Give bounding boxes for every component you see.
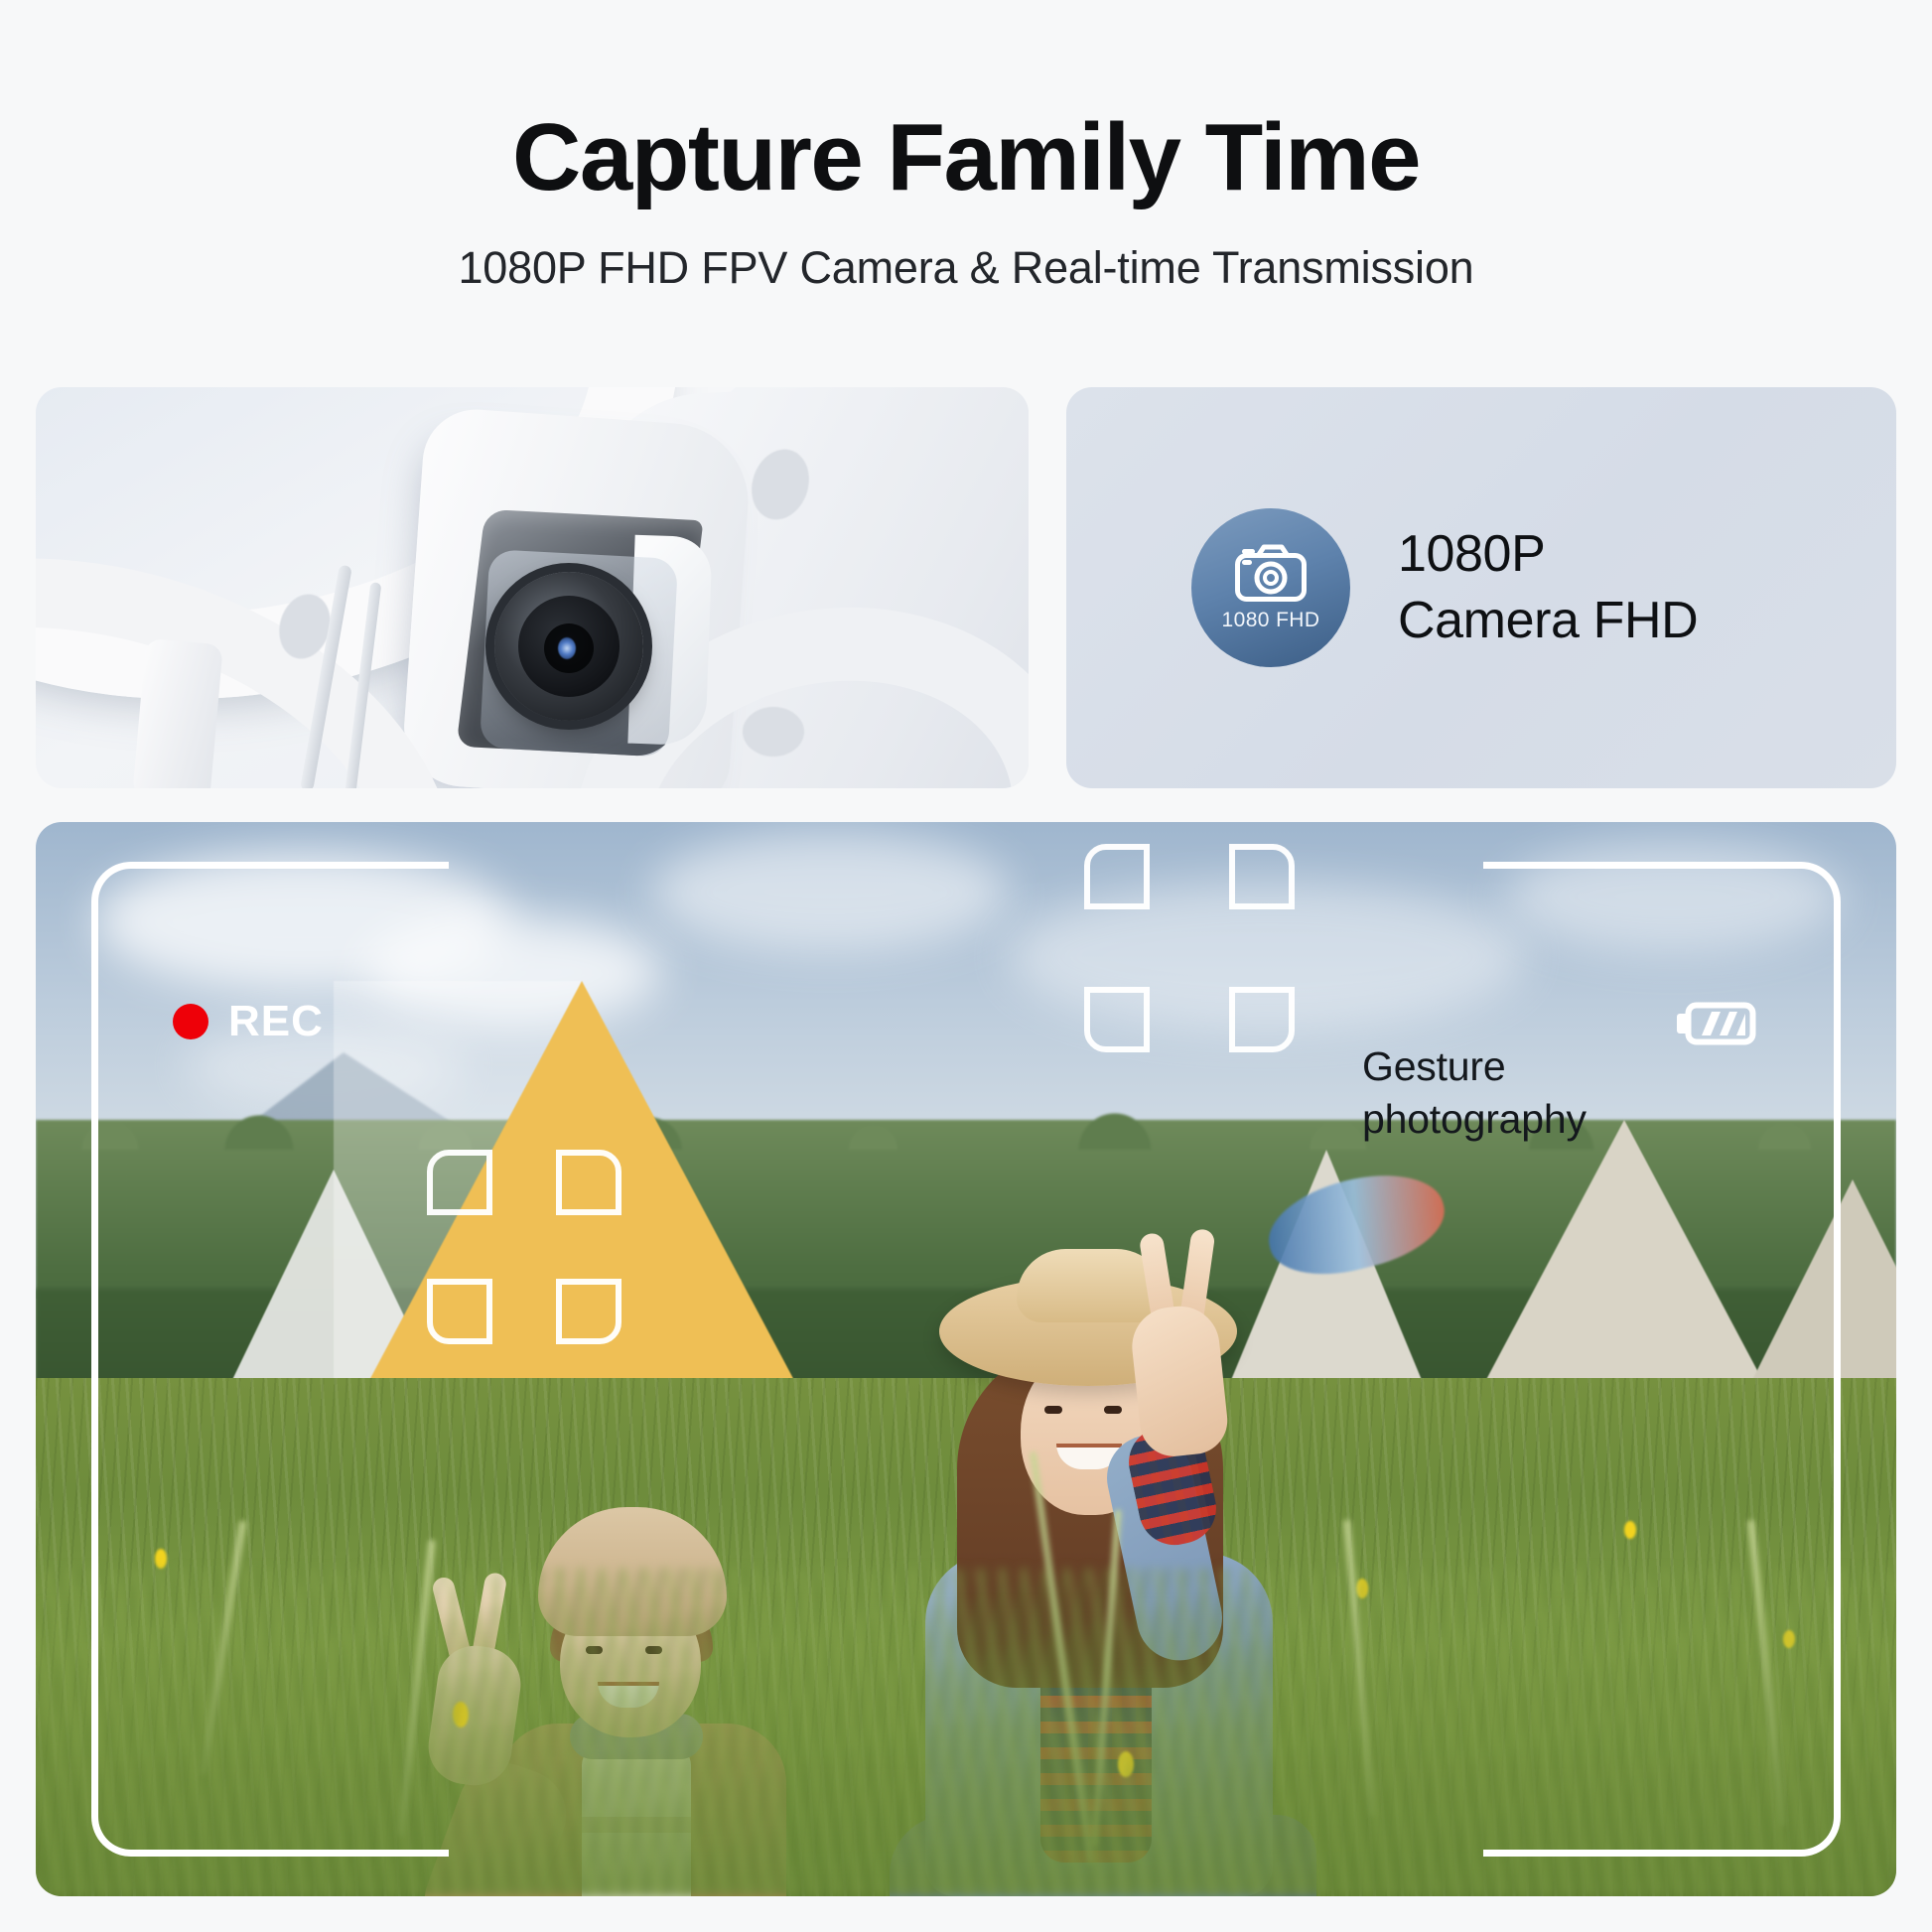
spec-line-2: Camera FHD xyxy=(1398,588,1698,654)
family-camping-photo: REC xyxy=(36,822,1896,1896)
product-feature-page: Capture Family Time 1080P FHD FPV Camera… xyxy=(0,0,1932,1932)
cloud xyxy=(1505,842,1843,951)
cloud xyxy=(1009,882,1525,1031)
flower xyxy=(1624,1521,1636,1539)
spec-card-1080p: 1080 FHD 1080P Camera FHD xyxy=(1066,387,1896,788)
spec-card-text: 1080P Camera FHD xyxy=(1398,521,1698,653)
woman-eye xyxy=(1104,1406,1122,1414)
page-title: Capture Family Time xyxy=(0,107,1932,208)
woman-eye xyxy=(1044,1406,1062,1414)
camera-lens-glint xyxy=(558,637,576,659)
drone-leg xyxy=(132,638,223,788)
camera-badge: 1080 FHD xyxy=(1191,508,1350,667)
cloud xyxy=(651,832,1009,951)
foreground-grass xyxy=(36,1569,1896,1896)
spec-line-1: 1080P xyxy=(1398,521,1698,588)
drone-camera-photo xyxy=(36,387,1029,788)
drone-vent xyxy=(743,707,804,757)
camera-icon xyxy=(1234,543,1308,603)
flower xyxy=(155,1549,167,1569)
page-header: Capture Family Time 1080P FHD FPV Camera… xyxy=(0,0,1932,294)
drone-scene xyxy=(36,387,1029,788)
camping-scene xyxy=(36,822,1896,1896)
top-row: 1080 FHD 1080P Camera FHD xyxy=(36,387,1896,788)
camera-badge-caption: 1080 FHD xyxy=(1222,609,1320,632)
page-subtitle: 1080P FHD FPV Camera & Real-time Transmi… xyxy=(0,242,1932,294)
